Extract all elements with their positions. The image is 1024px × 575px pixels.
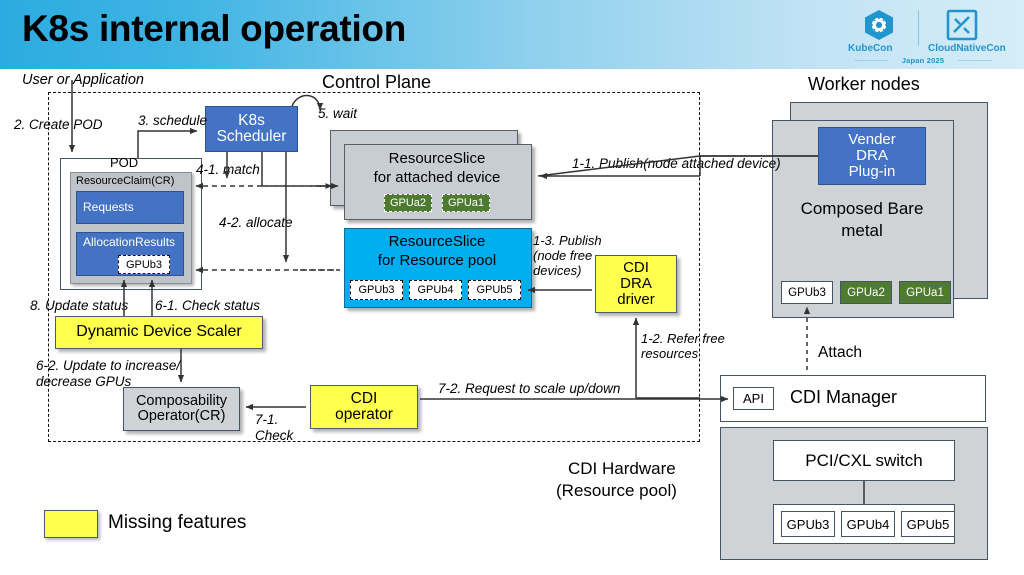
resourceslice-attached-gpu-chip-0: GPUa2 — [384, 194, 432, 212]
cdi-operator-label-line1: CDI — [351, 391, 378, 407]
pod-label: POD — [110, 155, 138, 170]
worker-nodes-label: Worker nodes — [808, 74, 920, 95]
resourceclaim-label: ResourceClaim(CR) — [76, 175, 174, 187]
resourceslice-attached-label-line2: for attached device — [344, 169, 530, 186]
k8s-scheduler-box: K8s Scheduler — [205, 106, 298, 152]
cdi-dra-driver-label-line1: CDI — [623, 260, 649, 276]
logo-divider — [918, 10, 919, 46]
resourceslice-pool-gpu-chip-0: GPUb3 — [350, 280, 403, 300]
flow-label-publish-attached: 1-1. Publish(node attached device) — [572, 156, 781, 171]
flow-label-update-increase-line2: decrease GPUs — [36, 374, 131, 389]
flow-label-publish-free-line1: 1-3. Publish — [533, 233, 602, 248]
flow-label-update-status: 8. Update status — [30, 298, 128, 313]
allocationresults-gpu-chip: GPUb3 — [118, 255, 170, 274]
cdi-dra-driver-label-line3: driver — [617, 292, 655, 308]
flow-label-create-pod: 2. Create POD — [14, 117, 103, 132]
user-or-application-label: User or Application — [22, 72, 144, 88]
pci-cxl-switch-label: PCI/CXL switch — [805, 452, 922, 470]
cdi-hardware-label-line2: (Resource pool) — [556, 481, 677, 501]
flow-label-check-line1: 7-1. — [255, 412, 278, 427]
resourceslice-pool-label-line2: for Resource pool — [344, 252, 530, 269]
requests-box: Requests — [76, 191, 184, 224]
vendor-dra-plugin-label-line2: DRA — [856, 148, 888, 164]
composed-bare-metal-label-line2: metal — [772, 221, 952, 241]
vendor-dra-plugin-box: Vender DRA Plug-in — [818, 127, 926, 185]
cdi-hardware-label-line1: CDI Hardware — [568, 459, 676, 479]
flow-label-allocate: 4-2. allocate — [219, 215, 293, 230]
vendor-dra-plugin-label-line3: Plug-in — [849, 164, 896, 180]
cdi-operator-box: CDI operator — [310, 385, 418, 429]
resourceslice-attached-gpu-chip-1: GPUa1 — [442, 194, 490, 212]
cdi-dra-driver-box: CDI DRA driver — [595, 255, 677, 313]
flow-label-refer-free-line2: resources — [641, 346, 698, 361]
page-title: K8s internal operation — [22, 8, 406, 50]
resourceslice-pool-label-line1: ResourceSlice — [344, 233, 530, 250]
flow-label-attach: Attach — [818, 344, 862, 362]
logo-event-label: Japan 2025 — [840, 56, 1006, 65]
flow-label-publish-free-line2: (node free — [533, 248, 592, 263]
slide-canvas: K8s internal operation — [0, 0, 1024, 575]
pci-cxl-switch-box: PCI/CXL switch — [773, 440, 955, 481]
worker-gpu-chip-1: GPUa2 — [840, 281, 892, 304]
resourceslice-pool-gpu-chip-1: GPUb4 — [409, 280, 462, 300]
worker-gpu-chip-2: GPUa1 — [899, 281, 951, 304]
flow-label-publish-free-line3: devices) — [533, 263, 581, 278]
cdi-dra-driver-label-line2: DRA — [620, 276, 652, 292]
resourceslice-attached-label-line1: ResourceSlice — [344, 150, 530, 167]
legend-swatch — [44, 510, 98, 538]
composability-operator-box: Composability Operator(CR) — [123, 387, 240, 431]
k8s-scheduler-label-line2: Scheduler — [217, 129, 287, 145]
composability-operator-label-line2: Operator(CR) — [138, 409, 226, 424]
dynamic-device-scaler-label: Dynamic Device Scaler — [76, 324, 241, 341]
flow-label-request-scale: 7-2. Request to scale up/down — [438, 381, 620, 396]
flow-label-schedule: 3. schedule — [138, 113, 207, 128]
api-box[interactable]: API — [733, 387, 774, 410]
allocationresults-label: AllocationResults — [83, 236, 175, 249]
flow-label-update-increase-line1: 6-2. Update to increase/ — [36, 358, 180, 373]
cloudnativecon-icon — [946, 9, 978, 46]
composed-bare-metal-label-line1: Composed Bare — [772, 199, 952, 219]
flow-label-refer-free-line1: 1-2. Refer free — [641, 331, 725, 346]
flow-label-check-line2: Check — [255, 428, 293, 443]
vendor-dra-plugin-label-line1: Vender — [848, 132, 896, 148]
cdi-operator-label-line2: operator — [335, 407, 393, 423]
event-logo: KubeCon CloudNativeCon Japan 2025 — [840, 4, 1006, 64]
kubernetes-helm-icon — [862, 9, 896, 46]
api-label: API — [743, 392, 764, 406]
resourceslice-pool-gpu-chip-2: GPUb5 — [468, 280, 521, 300]
legend-label: Missing features — [108, 512, 246, 534]
flow-label-match: 4-1. match — [196, 162, 260, 177]
dynamic-device-scaler-box: Dynamic Device Scaler — [55, 316, 263, 349]
control-plane-label: Control Plane — [322, 72, 431, 93]
slide-header: K8s internal operation — [0, 0, 1024, 69]
k8s-scheduler-label-line1: K8s — [238, 113, 265, 129]
pool-gpu-chip-0: GPUb3 — [781, 511, 835, 537]
requests-label: Requests — [83, 201, 134, 214]
logo-cloudnativecon-label: CloudNativeCon — [928, 43, 1006, 54]
logo-kubecon-label: KubeCon — [848, 43, 892, 54]
composability-operator-label-line1: Composability — [136, 394, 227, 409]
pool-gpu-chip-2: GPUb5 — [901, 511, 955, 537]
cdi-manager-label: CDI Manager — [790, 387, 897, 408]
pool-gpu-chip-1: GPUb4 — [841, 511, 895, 537]
flow-label-check-status: 6-1. Check status — [155, 298, 260, 313]
worker-gpu-chip-0: GPUb3 — [781, 281, 833, 304]
flow-label-wait: 5. wait — [318, 106, 357, 121]
